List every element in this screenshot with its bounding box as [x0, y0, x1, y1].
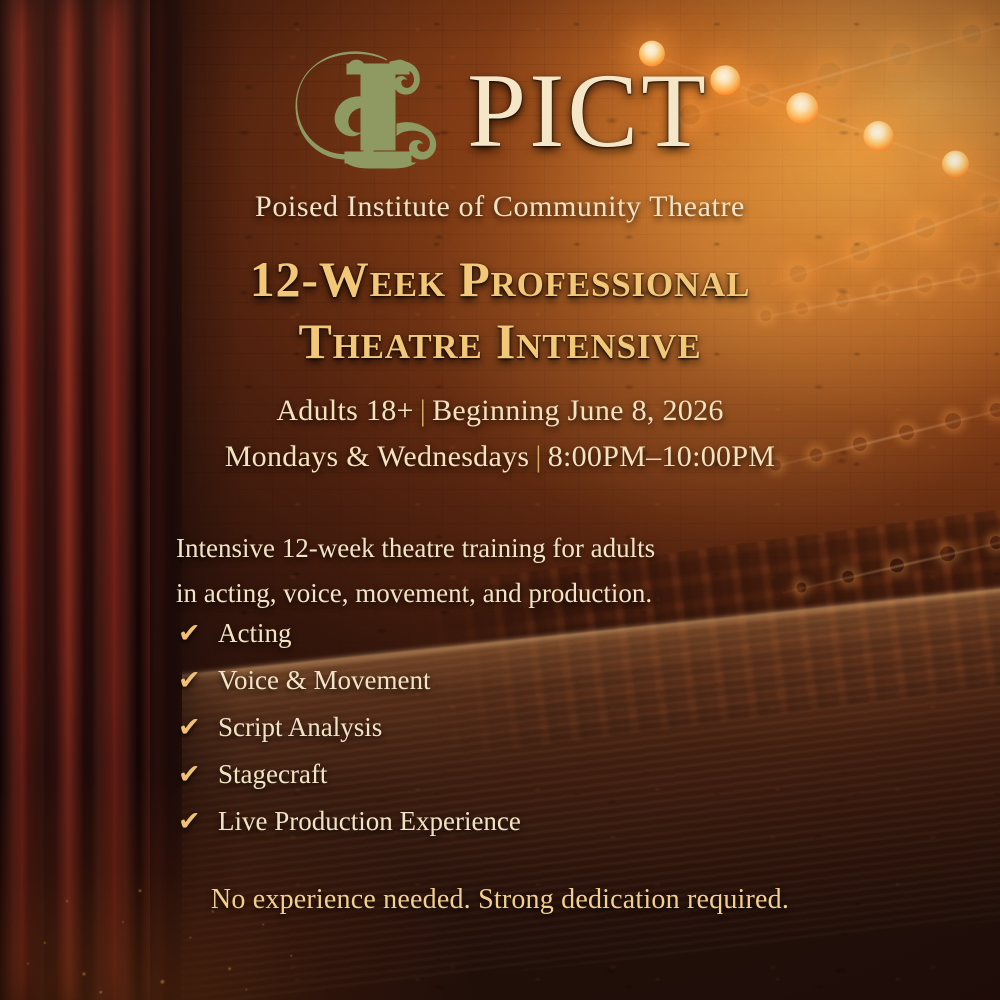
poster: PICT Poised Institute of Community Theat…	[0, 0, 1000, 1000]
check-icon: ✔	[178, 667, 202, 694]
check-icon: ✔	[178, 761, 202, 788]
feature-list: ✔ Acting ✔ Voice & Movement ✔ Script Ana…	[178, 618, 898, 853]
feature-label: Script Analysis	[218, 712, 382, 743]
check-icon: ✔	[178, 620, 202, 647]
feature-label: Voice & Movement	[218, 665, 430, 696]
list-item: ✔ Stagecraft	[178, 759, 898, 806]
footnote: No experience needed. Strong dedication …	[0, 884, 1000, 916]
feature-label: Live Production Experience	[218, 806, 521, 837]
schedule-line-audience-start: Adults 18+|Beginning June 8, 2026	[0, 388, 1000, 434]
list-item: ✔ Live Production Experience	[178, 806, 898, 853]
feature-label: Acting	[218, 618, 292, 649]
description: Intensive 12-week theatre training for a…	[176, 526, 876, 616]
check-icon: ✔	[178, 714, 202, 741]
feature-label: Stagecraft	[218, 759, 327, 790]
brand-wordmark: PICT	[467, 58, 709, 164]
headline-line-1: 12-Week Professional	[0, 248, 1000, 310]
class-days: Mondays & Wednesdays	[225, 440, 530, 473]
schedule-block: Adults 18+|Beginning June 8, 2026 Monday…	[0, 388, 1000, 480]
schedule-line-days-time: Mondays & Wednesdays|8:00PM–10:00PM	[0, 434, 1000, 480]
pict-monogram-icon	[291, 46, 459, 172]
list-item: ✔ Voice & Movement	[178, 665, 898, 712]
poster-content: PICT Poised Institute of Community Theat…	[0, 0, 1000, 1000]
list-item: ✔ Script Analysis	[178, 712, 898, 759]
logo-lockup: PICT	[0, 46, 1000, 172]
headline-line-2: Theatre Intensive	[0, 310, 1000, 372]
check-icon: ✔	[178, 808, 202, 835]
start-date: Beginning June 8, 2026	[432, 394, 724, 427]
list-item: ✔ Acting	[178, 618, 898, 665]
audience-age: Adults 18+	[276, 394, 413, 427]
brand-tagline: Poised Institute of Community Theatre	[0, 190, 1000, 224]
description-line-2: in acting, voice, movement, and producti…	[176, 571, 876, 616]
separator-icon: |	[414, 394, 432, 427]
description-line-1: Intensive 12-week theatre training for a…	[176, 526, 876, 571]
page-title: 12-Week Professional Theatre Intensive	[0, 248, 1000, 372]
separator-icon: |	[529, 440, 547, 473]
class-time: 8:00PM–10:00PM	[548, 440, 776, 473]
